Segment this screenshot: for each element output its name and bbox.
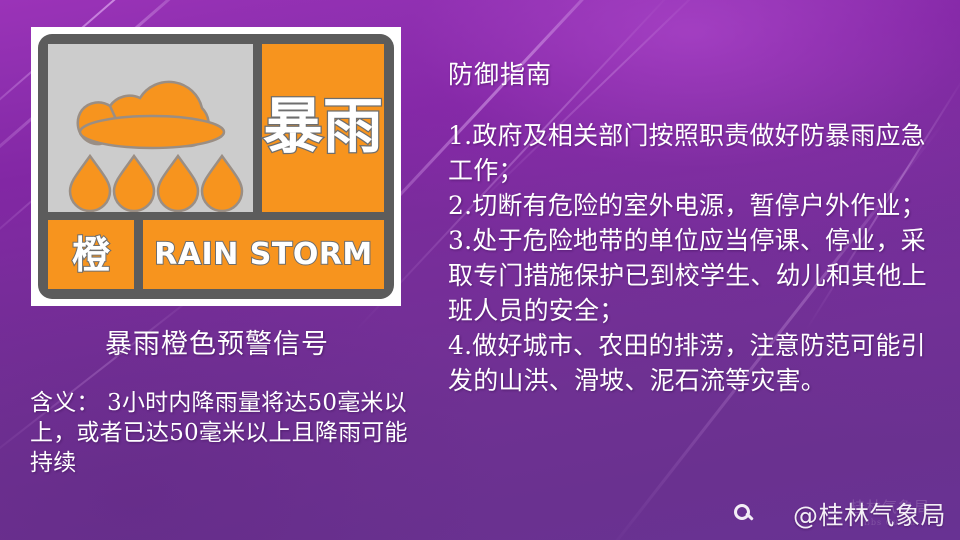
sign-frame: 暴雨 橙 RAIN STORM <box>38 34 394 299</box>
sign-grade-label: 橙 <box>72 236 110 274</box>
rain-cloud-with-drops-icon <box>48 44 253 212</box>
sign-hanzi-label: 暴雨 <box>263 99 383 157</box>
meaning-text: 含义： 3小时内降雨量将达50毫米以上，或者已达50毫米以上且降雨可能持续 <box>30 388 418 478</box>
guide-item: 3.处于危险地带的单位应当停课、停业，采取专门措施保护已到校学生、幼儿和其他上班… <box>448 223 930 328</box>
guide-item: 1.政府及相关部门按照职责做好防暴雨应急工作； <box>448 118 930 188</box>
sign-grade-panel: 橙 <box>48 220 134 289</box>
rainstorm-warning-sign: 暴雨 橙 RAIN STORM <box>31 27 401 306</box>
sign-lower-row: 橙 RAIN STORM <box>48 220 384 289</box>
sign-english-label: RAIN STORM <box>154 237 373 272</box>
defense-guide-heading: 防御指南 <box>448 55 552 91</box>
sign-english-panel: RAIN STORM <box>143 220 384 289</box>
sign-hanzi-panel: 暴雨 <box>262 44 384 212</box>
slide-canvas: 暴雨 橙 RAIN STORM 暴雨橙色预警信号 含义： 3小时内降雨量将达50… <box>0 0 960 540</box>
watermark-handle: @桂林气象局 <box>793 496 946 532</box>
guide-item: 2.切断有危险的室外电源，暂停户外作业； <box>448 188 930 223</box>
weibo-eye-icon <box>733 503 755 525</box>
defense-guide-list: 1.政府及相关部门按照职责做好防暴雨应急工作； 2.切断有危险的室外电源，暂停户… <box>448 118 930 398</box>
sign-title: 暴雨橙色预警信号 <box>31 322 403 361</box>
guide-item: 4.做好城市、农田的排涝，注意防范可能引发的山洪、滑坡、泥石流等灾害。 <box>448 328 930 398</box>
sign-upper-row: 暴雨 <box>48 44 384 212</box>
channel-watermark: @桂林气象局 <box>733 496 946 532</box>
